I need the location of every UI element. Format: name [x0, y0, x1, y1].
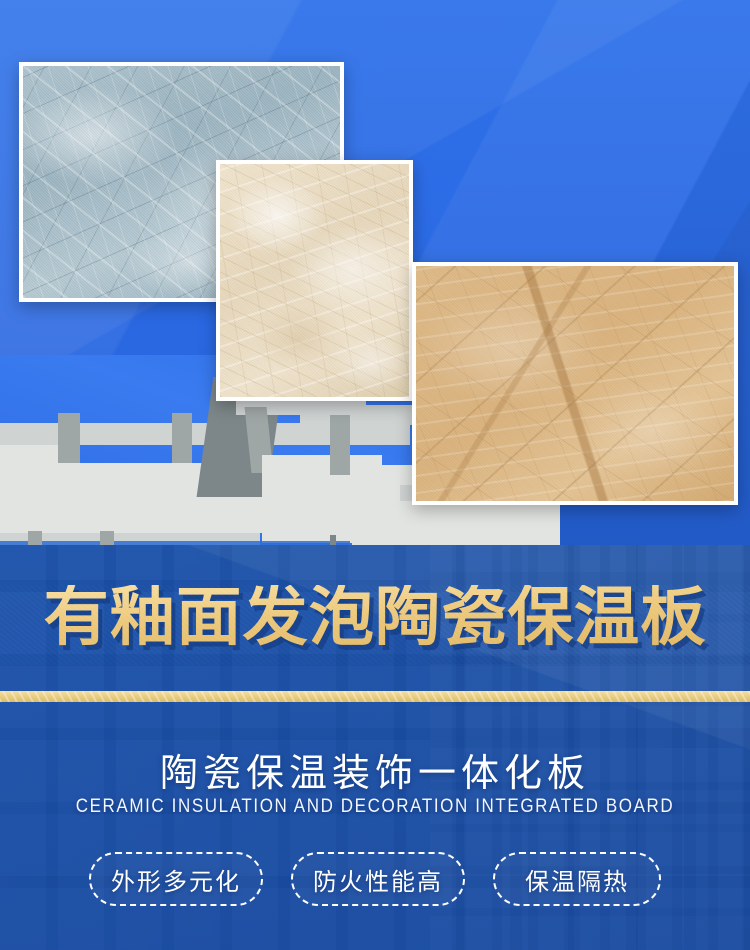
- tile-sample-tan-marble[interactable]: [412, 262, 738, 505]
- feature-badge-thermal-insulation[interactable]: 保温隔热: [493, 852, 661, 906]
- marble-texture: [416, 266, 734, 501]
- feature-badge-group: 外形多元化 防火性能高 保温隔热: [0, 852, 750, 906]
- building-beam: [0, 445, 60, 463]
- light-fixture: [325, 523, 341, 535]
- building-column: [58, 413, 80, 465]
- subtitle-chinese: 陶瓷保温装饰一体化板: [0, 742, 750, 797]
- page-title: 有釉面发泡陶瓷保温板: [0, 585, 750, 649]
- tile-sample-cream-travertine[interactable]: [216, 160, 413, 401]
- feature-badge-shape-diversity[interactable]: 外形多元化: [89, 852, 263, 906]
- subtitle-english: CERAMIC INSULATION AND DECORATION INTEGR…: [0, 795, 750, 818]
- feature-badge-fire-resistance[interactable]: 防火性能高: [291, 852, 465, 906]
- building-column: [172, 413, 192, 465]
- travertine-texture: [220, 164, 409, 397]
- building-column: [330, 415, 350, 475]
- product-banner: 有釉面发泡陶瓷保温板 陶瓷保温装饰一体化板 CERAMIC INSULATION…: [0, 0, 750, 950]
- gold-divider: [0, 691, 750, 702]
